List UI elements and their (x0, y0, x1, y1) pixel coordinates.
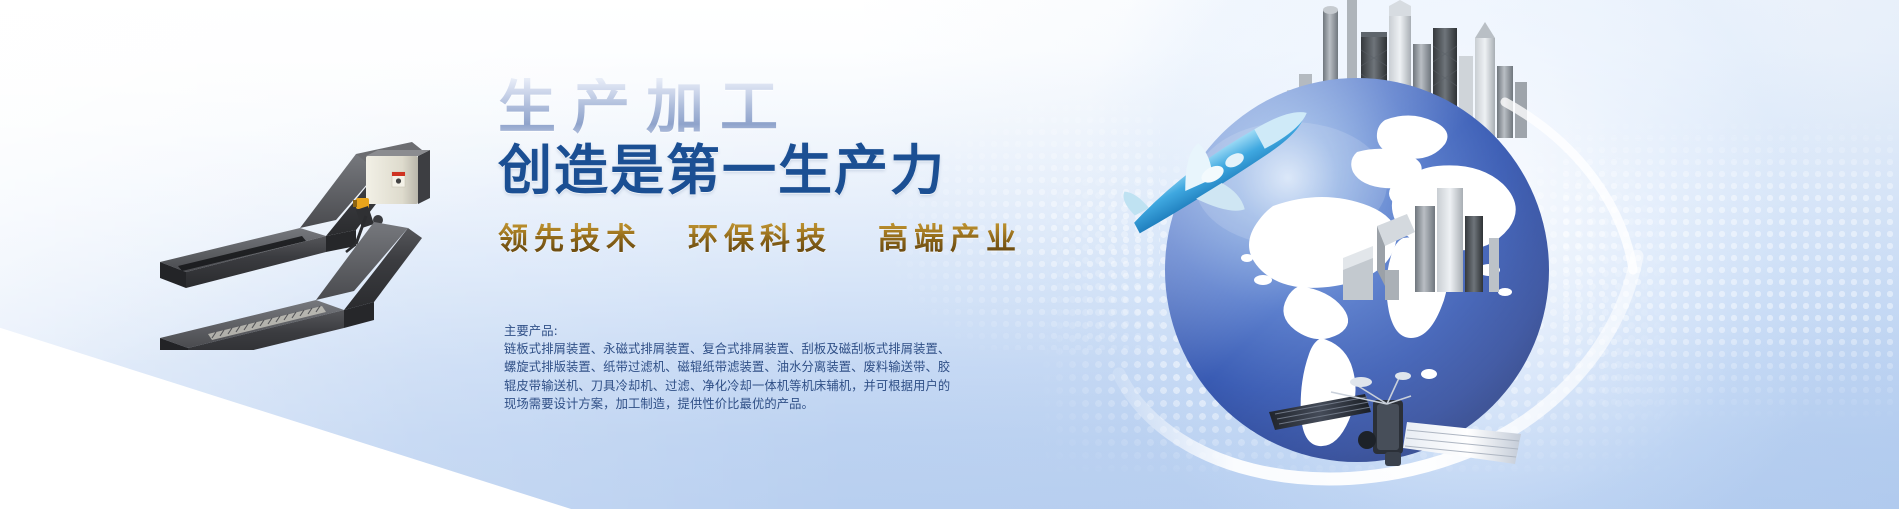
description-lead: 主要产品: (504, 322, 956, 340)
tagline-item-2: 环保科技 (688, 214, 832, 258)
machines-svg (150, 120, 530, 350)
tagline-item-1: 领先技术 (498, 214, 642, 258)
product-description: 主要产品: 链板式排屑装置、永磁式排屑装置、复合式排屑装置、刮板及磁刮板式排屑装… (504, 322, 956, 413)
headline-block: 生产加工 创造是第一生产力 领先技术 环保科技 高端产业 (498, 78, 968, 258)
headline-secondary: 生产加工 (498, 78, 968, 137)
page-title: 创造是第一生产力 (498, 143, 968, 200)
description-body: 链板式排屑装置、永磁式排屑装置、复合式排屑装置、刮板及磁刮板式排屑装置、螺旋式排… (504, 340, 956, 413)
globe-graphic (1085, 0, 1645, 509)
globe-svg (1085, 0, 1645, 509)
machine-graphics-group (150, 120, 530, 340)
promo-banner: 生产加工 创造是第一生产力 领先技术 环保科技 高端产业 主要产品: 链板式排屑… (0, 0, 1899, 509)
tagline-item-3: 高端产业 (878, 214, 1022, 258)
tagline-row: 领先技术 环保科技 高端产业 (498, 214, 968, 258)
